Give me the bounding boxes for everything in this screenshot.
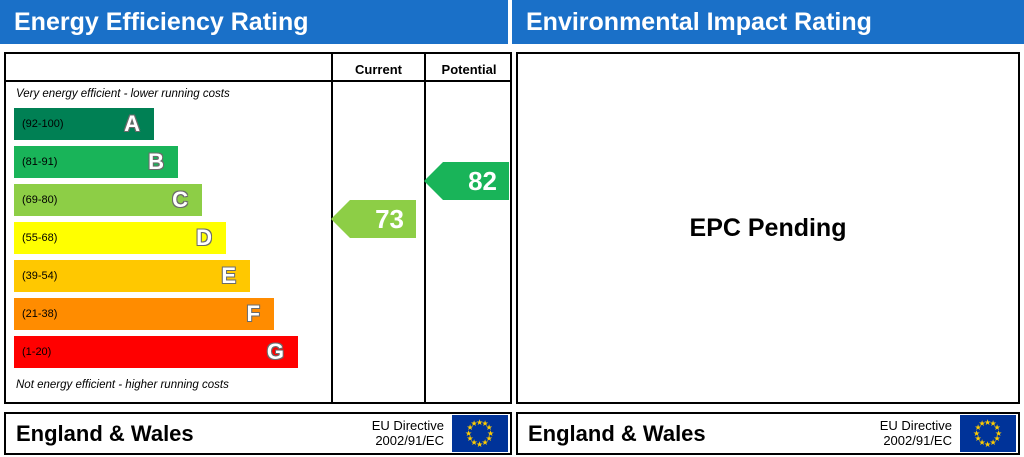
footer-right-directive-line2: 2002/91/EC xyxy=(883,433,952,448)
band-e-range: (39-54) xyxy=(22,270,57,282)
band-d: (55-68) D xyxy=(14,222,226,254)
potential-rating-value: 82 xyxy=(468,166,497,197)
band-b-letter: B xyxy=(148,149,164,175)
epc-certificate: Energy Efficiency Rating Environmental I… xyxy=(0,0,1024,457)
eu-flag-icon-left: ★★★★★★★★★★★★ xyxy=(452,415,508,452)
band-c-range: (69-80) xyxy=(22,194,57,206)
band-b-range: (81-91) xyxy=(22,156,57,168)
footer-left-directive: EU Directive 2002/91/EC xyxy=(372,419,452,449)
eu-star-icon: ★ xyxy=(979,420,986,428)
band-c: (69-80) C xyxy=(14,184,202,216)
environmental-impact-panel: EPC Pending xyxy=(516,52,1020,404)
band-c-letter: C xyxy=(172,187,188,213)
potential-rating-arrow: 82 xyxy=(443,162,509,200)
band-e-letter: E xyxy=(221,263,236,289)
band-f: (21-38) F xyxy=(14,298,274,330)
band-b: (81-91) B xyxy=(14,146,178,178)
band-a-letter: A xyxy=(124,111,140,137)
band-f-letter: F xyxy=(247,301,260,327)
current-column-label: Current xyxy=(333,58,424,80)
footer-right: England & Wales EU Directive 2002/91/EC … xyxy=(516,412,1020,455)
header-divider xyxy=(6,80,510,82)
eu-flag-icon-right: ★★★★★★★★★★★★ xyxy=(960,415,1016,452)
potential-column-label: Potential xyxy=(426,58,512,80)
band-e: (39-54) E xyxy=(14,260,250,292)
band-d-letter: D xyxy=(196,225,212,251)
environmental-impact-header: Environmental Impact Rating xyxy=(512,0,1024,44)
energy-efficiency-chart: Current Potential Very energy efficient … xyxy=(4,52,512,404)
footer-right-directive-line1: EU Directive xyxy=(880,418,952,433)
band-g: (1-20) G xyxy=(14,336,298,368)
column-divider-2 xyxy=(424,54,426,402)
energy-efficiency-header: Energy Efficiency Rating xyxy=(0,0,508,44)
footer-right-region: England & Wales xyxy=(518,421,880,447)
band-f-range: (21-38) xyxy=(22,308,57,320)
band-g-letter: G xyxy=(267,339,284,365)
eu-star-icon: ★ xyxy=(471,420,478,428)
footer-left-directive-line1: EU Directive xyxy=(372,418,444,433)
current-rating-value: 73 xyxy=(375,204,404,235)
footer-left: England & Wales EU Directive 2002/91/EC … xyxy=(4,412,512,455)
footer-right-directive: EU Directive 2002/91/EC xyxy=(880,419,960,449)
band-a: (92-100) A xyxy=(14,108,154,140)
efficiency-note-bottom: Not energy efficient - higher running co… xyxy=(16,379,229,391)
band-a-range: (92-100) xyxy=(22,118,64,130)
footer-left-directive-line2: 2002/91/EC xyxy=(375,433,444,448)
efficiency-note-top: Very energy efficient - lower running co… xyxy=(16,88,230,100)
energy-efficiency-title: Energy Efficiency Rating xyxy=(14,8,309,37)
band-d-range: (55-68) xyxy=(22,232,57,244)
footer-left-region: England & Wales xyxy=(6,421,372,447)
epc-pending-message: EPC Pending xyxy=(690,214,847,243)
band-g-range: (1-20) xyxy=(22,346,51,358)
current-rating-arrow: 73 xyxy=(350,200,416,238)
environmental-impact-title: Environmental Impact Rating xyxy=(526,8,872,37)
